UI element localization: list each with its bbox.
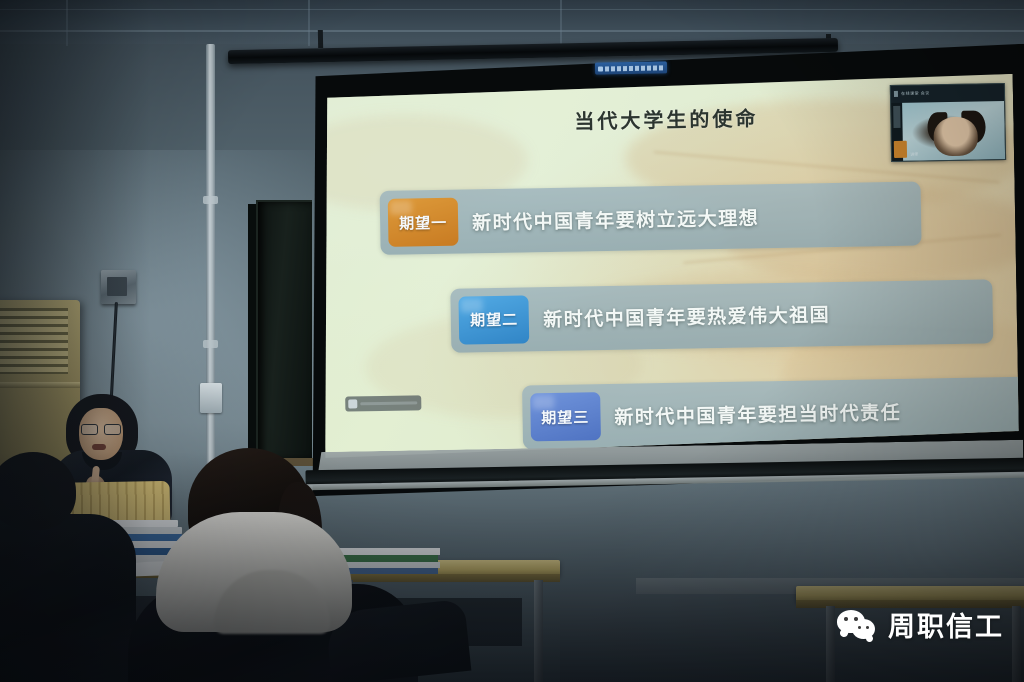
- slide-row-1: 期望一 新时代中国青年要树立远大理想: [380, 182, 922, 255]
- presenter-toolbar[interactable]: [345, 395, 421, 411]
- heater-grill: [0, 308, 68, 374]
- conduit-clip: [203, 340, 218, 348]
- slide-row-1-badge: 期望一: [388, 198, 459, 247]
- wall-socket-box: [101, 270, 136, 304]
- slide-row-1-text: 新时代中国青年要树立远大理想: [458, 182, 922, 254]
- projected-slide: 当代大学生的使命 期望一 新时代中国青年要树立远大理想 期望二 新时代中国青年要…: [319, 74, 1019, 458]
- wall-joint: [560, 0, 562, 46]
- wall-baseboard: [636, 578, 1024, 594]
- video-participant-face: [933, 116, 978, 156]
- heater-lip: [0, 382, 80, 388]
- classroom-floor: [560, 594, 1024, 682]
- socket-face: [107, 277, 127, 296]
- projector-screen: 当代大学生的使命 期望一 新时代中国青年要树立远大理想 期望二 新时代中国青年要…: [296, 44, 1024, 497]
- video-call-title: 在线课堂 会议: [901, 90, 1001, 98]
- video-call-window[interactable]: 在线课堂 会议 讲师: [890, 83, 1006, 161]
- conduit-clip: [203, 196, 218, 204]
- wall-heater: [0, 300, 80, 500]
- video-call-sidebar-strip: [893, 106, 900, 128]
- video-camera-icon: [894, 91, 898, 97]
- screen-mount-bracket: [318, 30, 323, 48]
- light-switch[interactable]: [200, 383, 222, 413]
- status-chip[interactable]: [595, 61, 667, 74]
- status-chip-text: [605, 65, 664, 71]
- classroom-photo: 当代大学生的使命 期望一 新时代中国青年要树立远大理想 期望二 新时代中国青年要…: [0, 0, 1024, 682]
- status-chip-icon: [598, 66, 603, 71]
- slide-row-3-badge: 期望三: [530, 392, 601, 441]
- ceiling-seam-secondary: [0, 9, 1024, 10]
- slide-row-2-badge: 期望二: [459, 295, 530, 344]
- video-call-title-bar: 在线课堂 会议: [891, 84, 1004, 102]
- wall-conduit-pipe: [206, 44, 215, 564]
- slide-row-2: 期望二 新时代中国青年要热爱伟大祖国: [451, 279, 993, 352]
- presenter-toolbar-icon[interactable]: [348, 399, 357, 408]
- slide-row-2-text: 新时代中国青年要热爱伟大祖国: [529, 279, 993, 351]
- wall-joint: [66, 0, 68, 46]
- mic-status-badge: [894, 141, 907, 158]
- heater-shadow: [0, 485, 80, 500]
- wall-joint: [308, 0, 310, 46]
- presenter-toolbar-strip: [360, 401, 417, 405]
- video-participant-label: 讲师: [910, 152, 918, 158]
- ceiling: [0, 0, 1024, 44]
- ceiling-seam: [0, 30, 1024, 32]
